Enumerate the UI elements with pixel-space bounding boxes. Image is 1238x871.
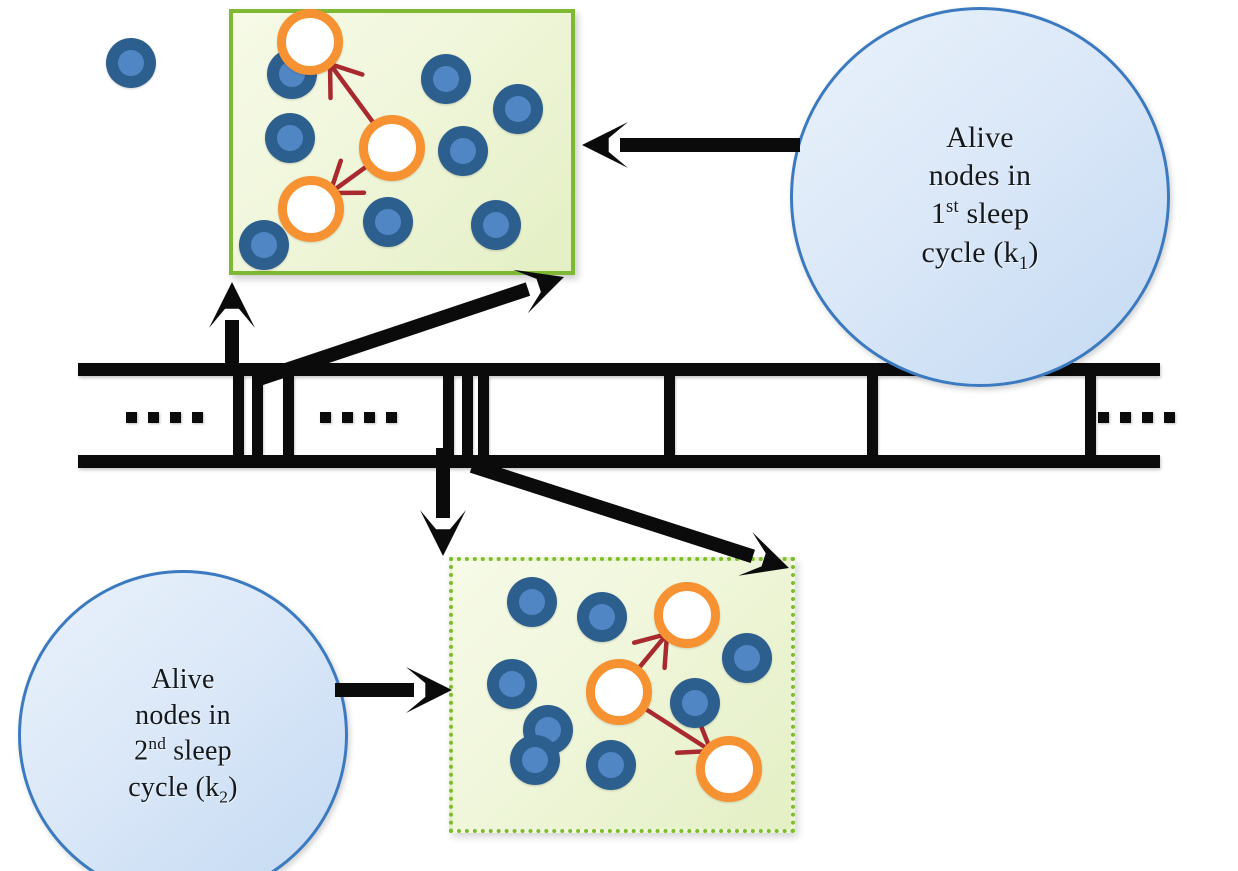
ellipsis-dot <box>1098 412 1109 423</box>
blue-node <box>421 54 471 104</box>
alive-nodes-cycle-1-bubble-label: Alivenodes in1st sleepcycle (k1) <box>921 119 1038 276</box>
bubble-text-line: nodes in <box>128 698 237 734</box>
timeline-tick-2 <box>252 376 263 455</box>
orange-cluster-head-node <box>278 176 344 242</box>
bubble-text-line: cycle (k2) <box>128 770 237 809</box>
bubble-text-line: nodes in <box>921 157 1038 195</box>
arrow-bubble-cycle-1-to-panel <box>582 122 800 168</box>
blue-node <box>722 633 772 683</box>
alive-nodes-cycle-2-bubble: Alivenodes in2nd sleepcycle (k2) <box>18 570 348 871</box>
blue-node <box>510 735 560 785</box>
blue-node <box>363 197 413 247</box>
ellipsis-dot <box>1142 412 1153 423</box>
timeline-tick-7 <box>664 376 675 455</box>
blue-node <box>106 38 156 88</box>
blue-node <box>471 200 521 250</box>
ellipsis-dot <box>320 412 331 423</box>
bubble-text-line: cycle (k1) <box>921 234 1038 276</box>
blue-node <box>265 113 315 163</box>
arrow-timeline-diagonal-to-panel-cycle-1-head <box>513 270 564 314</box>
alive-nodes-cycle-1-bubble: Alivenodes in1st sleepcycle (k1) <box>790 7 1170 387</box>
arrow-bubble-cycle-2-to-panel-head <box>406 667 452 713</box>
ellipsis-dot <box>170 412 181 423</box>
blue-node <box>507 577 557 627</box>
blue-node <box>493 84 543 134</box>
ellipsis-dot <box>386 412 397 423</box>
ellipsis-dot <box>192 412 203 423</box>
blue-node <box>577 592 627 642</box>
ellipsis-dot <box>342 412 353 423</box>
arrow-timeline-to-panel-cycle-2-head <box>420 510 466 556</box>
diagram-canvas: Alivenodes in1st sleepcycle (k1)Alivenod… <box>0 0 1238 871</box>
subscript-index: 1 <box>1019 253 1029 274</box>
timeline-tick-6 <box>478 376 489 455</box>
blue-node <box>438 126 488 176</box>
orange-cluster-head-node <box>359 115 425 181</box>
timeline-ellipsis-right <box>1098 412 1175 423</box>
alive-nodes-cycle-2-bubble-label: Alivenodes in2nd sleepcycle (k2) <box>128 662 237 809</box>
network-panel-cycle-1 <box>229 9 575 275</box>
timeline-ellipsis-middle <box>320 412 397 423</box>
blue-node <box>487 659 537 709</box>
timeline-ellipsis-left <box>126 412 203 423</box>
bubble-text-line: 1st sleep <box>921 195 1038 233</box>
ellipsis-dot <box>1164 412 1175 423</box>
bubble-text-line: Alive <box>921 119 1038 157</box>
ellipsis-dot <box>148 412 159 423</box>
ellipsis-dot <box>1120 412 1131 423</box>
arrow-bubble-cycle-1-to-panel-head <box>582 122 628 168</box>
timeline-tick-1 <box>233 376 244 455</box>
orange-cluster-head-node <box>586 659 652 725</box>
timeline-bottom-rail <box>78 455 1160 468</box>
arrow-bubble-cycle-2-to-panel <box>335 667 452 713</box>
blue-node <box>670 678 720 728</box>
blue-node <box>586 740 636 790</box>
bubble-text-line: Alive <box>128 662 237 698</box>
timeline-tick-5 <box>462 376 473 455</box>
arrow-timeline-to-panel-cycle-1 <box>209 282 255 372</box>
arrow-timeline-to-panel-cycle-1-head <box>209 282 255 328</box>
timeline-tick-8 <box>867 376 878 455</box>
orange-cluster-head-node <box>277 9 343 75</box>
subscript-index: 2 <box>219 787 228 806</box>
ellipsis-dot <box>364 412 375 423</box>
ellipsis-dot <box>126 412 137 423</box>
ordinal-suffix: st <box>946 196 959 217</box>
ordinal-suffix: nd <box>148 734 166 753</box>
orange-cluster-head-node <box>654 582 720 648</box>
timeline-tick-4 <box>443 376 454 455</box>
blue-node <box>239 220 289 270</box>
orange-cluster-head-node <box>696 736 762 802</box>
timeline-tick-9 <box>1085 376 1096 455</box>
timeline-tick-3 <box>283 376 294 455</box>
bubble-text-line: 2nd sleep <box>128 733 237 769</box>
network-panel-cycle-2 <box>449 557 795 833</box>
